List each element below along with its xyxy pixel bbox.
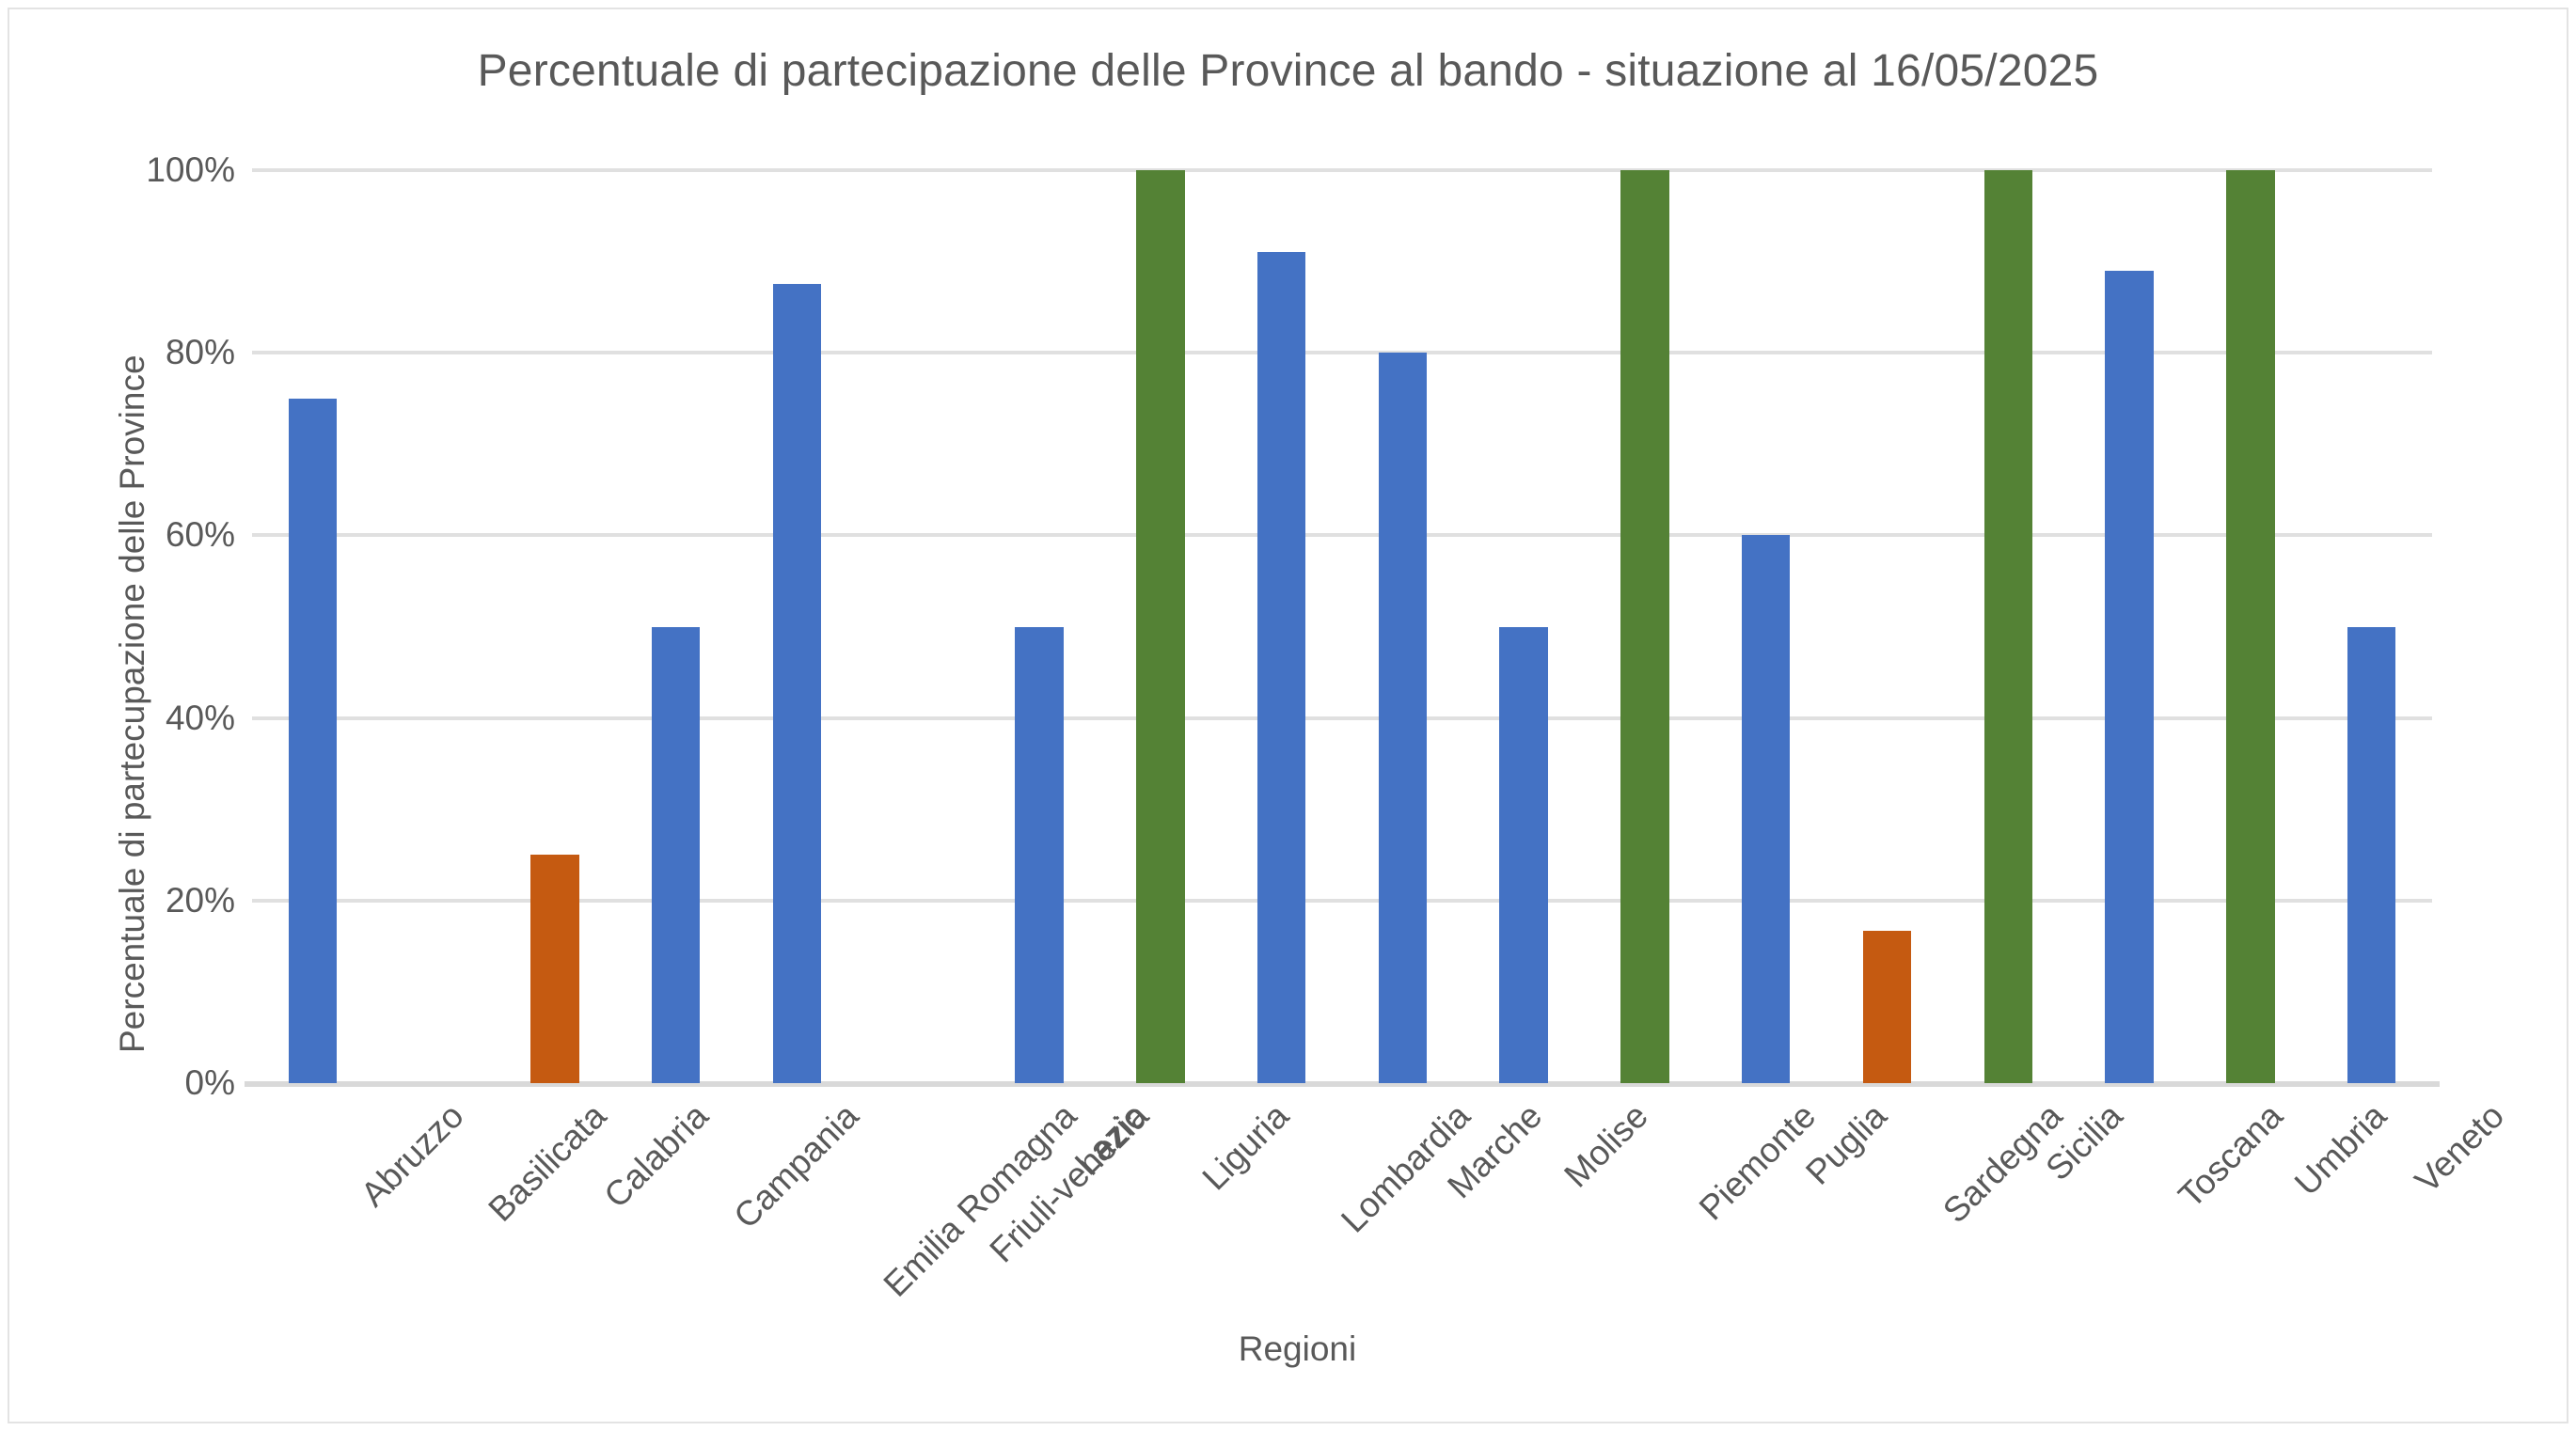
bar-molise[interactable] xyxy=(1499,627,1548,1084)
bar-piemonte[interactable] xyxy=(1620,170,1669,1083)
bar-lombardia[interactable] xyxy=(1257,252,1306,1083)
y-axis-tick-label: 20% xyxy=(66,881,235,920)
y-axis-tick-label: 40% xyxy=(66,699,235,738)
chart-container[interactable]: Percentuale di partecipazione delle Prov… xyxy=(8,8,2568,1423)
bar-abruzzo[interactable] xyxy=(289,399,338,1083)
chart-page: Percentuale di partecipazione delle Prov… xyxy=(0,0,2576,1431)
chart-title: Percentuale di partecipazione delle Prov… xyxy=(9,45,2567,97)
bar-marche[interactable] xyxy=(1379,353,1428,1083)
y-axis-tick-label: 60% xyxy=(66,515,235,555)
bar-sardegna[interactable] xyxy=(1863,931,1912,1083)
y-axis-tick-label: 0% xyxy=(66,1063,235,1103)
bar-emilia-romagna[interactable] xyxy=(773,284,822,1083)
y-axis-title: Percentuale di partecupazione delle Prov… xyxy=(113,354,152,1053)
y-axis-tick-label: 80% xyxy=(66,333,235,372)
y-axis-tick-label: 100% xyxy=(66,150,235,190)
bar-lazio[interactable] xyxy=(1015,627,1064,1084)
x-axis-title: Regioni xyxy=(9,1329,2576,1369)
bar-calabria[interactable] xyxy=(530,855,579,1083)
bar-campania[interactable] xyxy=(652,627,701,1084)
plot-area xyxy=(252,170,2432,1083)
bar-umbria[interactable] xyxy=(2226,170,2275,1083)
bar-veneto[interactable] xyxy=(2347,627,2396,1084)
bar-puglia[interactable] xyxy=(1742,535,1791,1083)
bar-sicilia[interactable] xyxy=(1984,170,2033,1083)
bar-liguria[interactable] xyxy=(1136,170,1185,1083)
gridline xyxy=(252,168,2432,172)
bar-toscana[interactable] xyxy=(2105,271,2154,1083)
